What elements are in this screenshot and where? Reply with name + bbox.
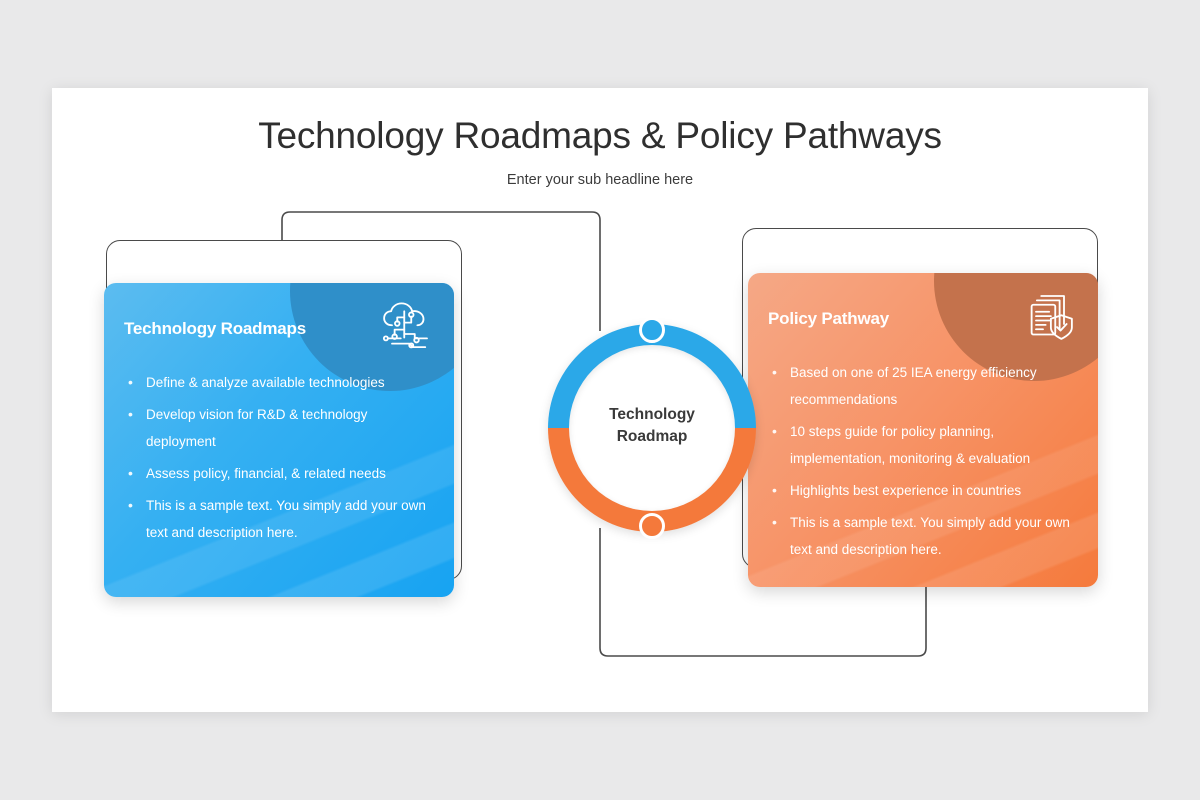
center-label-line2: Roadmap <box>617 428 688 445</box>
list-item: Highlights best experience in countries <box>766 477 1082 504</box>
card-title: Policy Pathway <box>768 309 889 329</box>
center-label: Technology Roadmap <box>574 404 730 448</box>
list-item: This is a sample text. You simply add yo… <box>122 492 438 546</box>
list-item: 10 steps guide for policy planning, impl… <box>766 418 1082 472</box>
slide-canvas: Technology Roadmaps & Policy Pathways En… <box>52 88 1148 712</box>
card-policy-pathway[interactable]: Policy Pathway Based on one of 25 IEA en… <box>748 273 1098 587</box>
card-technology-roadmaps[interactable]: Technology Roadmaps Define & analyze ava… <box>104 283 454 597</box>
card-title: Technology Roadmaps <box>124 319 306 339</box>
page-title: Technology Roadmaps & Policy Pathways <box>52 115 1148 157</box>
list-item: Assess policy, financial, & related need… <box>122 460 438 487</box>
center-ring-group[interactable]: Technology Roadmap <box>548 324 756 532</box>
list-item: Develop vision for R&D & technology depl… <box>122 401 438 455</box>
list-item: This is a sample text. You simply add yo… <box>766 509 1082 563</box>
bottom-node-dot[interactable] <box>639 513 665 539</box>
documents-shield-check-icon <box>1022 289 1078 345</box>
center-label-line1: Technology <box>609 406 695 423</box>
list-item: Define & analyze available technologies <box>122 369 438 396</box>
page-subtitle: Enter your sub headline here <box>52 172 1148 188</box>
top-node-dot[interactable] <box>639 317 665 343</box>
cloud-circuit-icon <box>378 299 434 355</box>
card-bullet-list: Define & analyze available technologies … <box>122 369 438 551</box>
card-bullet-list: Based on one of 25 IEA energy efficiency… <box>766 359 1082 568</box>
list-item: Based on one of 25 IEA energy efficiency… <box>766 359 1082 413</box>
